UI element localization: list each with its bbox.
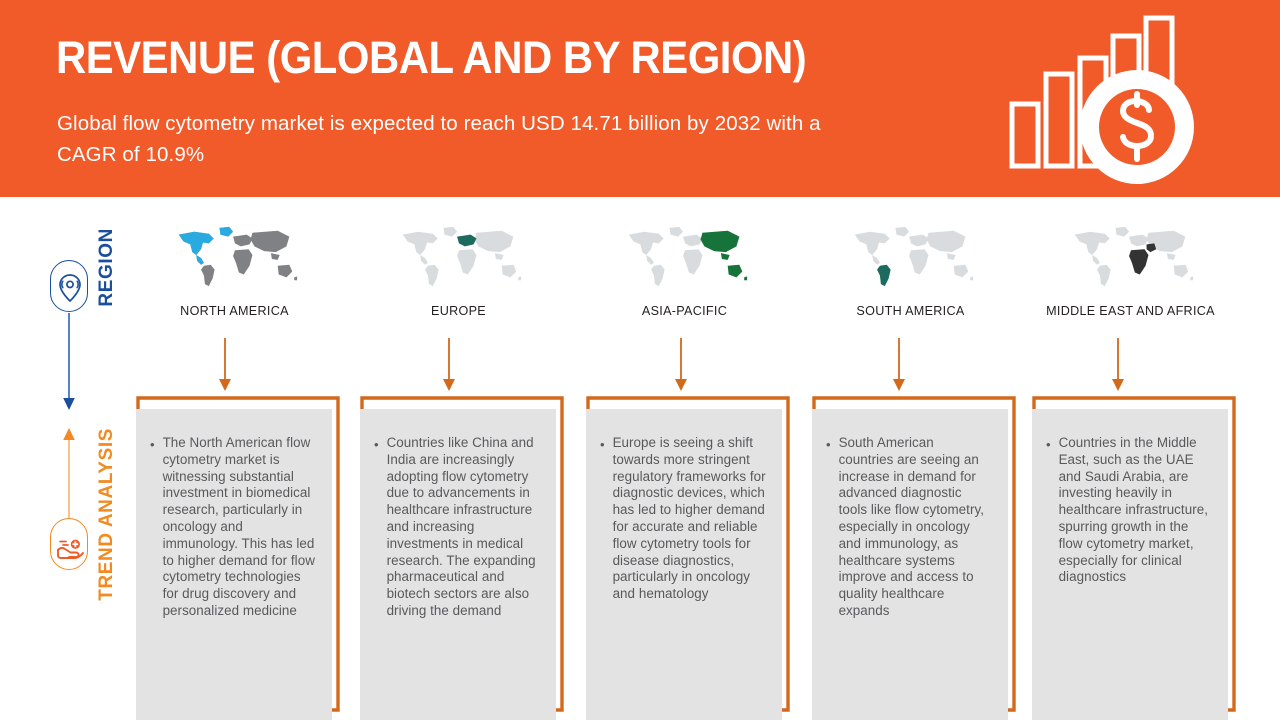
rail-label-trend-analysis: TREND ANALYSIS [96, 428, 118, 601]
world-map-north-america-highlight [169, 222, 301, 294]
column-arrow-down-icon [442, 338, 456, 392]
trend-text: Countries in the Middle East, such as th… [1059, 435, 1212, 586]
region-arrow-down-icon [62, 313, 76, 413]
region-column: SOUTH AMERICA [809, 222, 1012, 318]
world-map-middle-east-africa-highlight [1065, 222, 1197, 294]
region-column: NORTH AMERICA [133, 222, 336, 318]
trend-text: The North American flow cytometry market… [163, 435, 316, 620]
location-pin-icon [51, 261, 89, 313]
trend-card: •The North American flow cytometry marke… [136, 409, 332, 720]
trend-card-bracket: •Europe is seeing a shift towards more s… [586, 396, 790, 720]
world-map-south-america-highlight [845, 222, 977, 294]
trend-card: •Countries like China and India are incr… [360, 409, 556, 720]
header-banner: REVENUE (GLOBAL AND BY REGION) Global fl… [0, 0, 1280, 197]
list-bullet: • [600, 435, 605, 603]
hand-health-icon [51, 519, 89, 571]
world-map-europe-highlight [393, 222, 525, 294]
region-label: NORTH AMERICA [133, 304, 336, 318]
trend-card-bracket: •South American countries are seeing an … [812, 396, 1016, 720]
slide-root: REVENUE (GLOBAL AND BY REGION) Global fl… [0, 0, 1280, 720]
column-arrow-down-icon [674, 338, 688, 392]
region-column: MIDDLE EAST AND AFRICA [1029, 222, 1232, 318]
region-label: EUROPE [357, 304, 560, 318]
trend-card-bracket: •Countries in the Middle East, such as t… [1032, 396, 1236, 720]
list-bullet: • [826, 435, 831, 620]
trend-text: Countries like China and India are incre… [387, 435, 540, 620]
region-column: EUROPE [357, 222, 560, 318]
column-arrow-down-icon [1111, 338, 1125, 392]
trend-card-bracket: •The North American flow cytometry marke… [136, 396, 340, 720]
trend-text: Europe is seeing a shift towards more st… [613, 435, 766, 603]
region-label: MIDDLE EAST AND AFRICA [1029, 304, 1232, 318]
header-subtitle: Global flow cytometry market is expected… [57, 108, 847, 170]
trend-card: •Countries in the Middle East, such as t… [1032, 409, 1228, 720]
column-arrow-down-icon [892, 338, 906, 392]
rail-label-region: REGION [96, 228, 118, 307]
trend-card: •South American countries are seeing an … [812, 409, 1008, 720]
trend-analysis-badge [50, 518, 88, 570]
trend-card: •Europe is seeing a shift towards more s… [586, 409, 782, 720]
region-column: ASIA-PACIFIC [583, 222, 786, 318]
region-label: ASIA-PACIFIC [583, 304, 786, 318]
list-bullet: • [150, 435, 155, 620]
page-title: REVENUE (GLOBAL AND BY REGION) [56, 33, 806, 83]
region-label: SOUTH AMERICA [809, 304, 1012, 318]
trend-arrow-up-icon [62, 428, 76, 524]
list-bullet: • [1046, 435, 1051, 586]
trend-text: South American countries are seeing an i… [839, 435, 992, 620]
region-badge [50, 260, 88, 312]
world-map-asia-pacific-highlight [619, 222, 751, 294]
bar-chart-dollar-icon [1000, 12, 1200, 192]
column-arrow-down-icon [218, 338, 232, 392]
list-bullet: • [374, 435, 379, 620]
trend-card-bracket: •Countries like China and India are incr… [360, 396, 564, 720]
